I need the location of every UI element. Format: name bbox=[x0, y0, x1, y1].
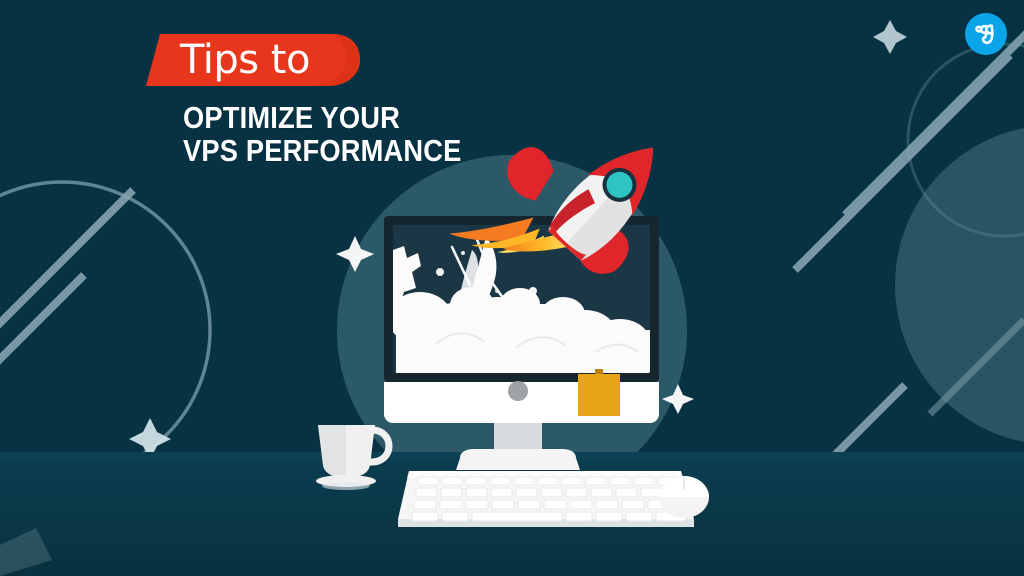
tips-ribbon-label: Tips to bbox=[180, 35, 310, 85]
screen-star-1 bbox=[436, 268, 444, 276]
headline-line-1: OPTIMIZE YOUR bbox=[183, 101, 480, 134]
mouse bbox=[659, 476, 709, 518]
tips-ribbon: Tips to bbox=[146, 34, 360, 86]
geeksforgeeks-logo[interactable] bbox=[964, 12, 1008, 56]
headline-title: OPTIMIZE YOUR VPS PERFORMANCE bbox=[183, 101, 520, 167]
keyboard bbox=[398, 471, 694, 527]
monitor-logo-dot bbox=[508, 381, 528, 401]
sticky-note bbox=[578, 369, 620, 416]
headline-line-2: VPS PERFORMANCE bbox=[183, 134, 480, 167]
screen-star-2 bbox=[461, 251, 465, 255]
monitor-stand-base bbox=[456, 449, 580, 470]
headline-block: Tips to OPTIMIZE YOUR VPS PERFORMANCE bbox=[0, 34, 520, 167]
banner-canvas: Tips to OPTIMIZE YOUR VPS PERFORMANCE bbox=[0, 0, 1024, 576]
